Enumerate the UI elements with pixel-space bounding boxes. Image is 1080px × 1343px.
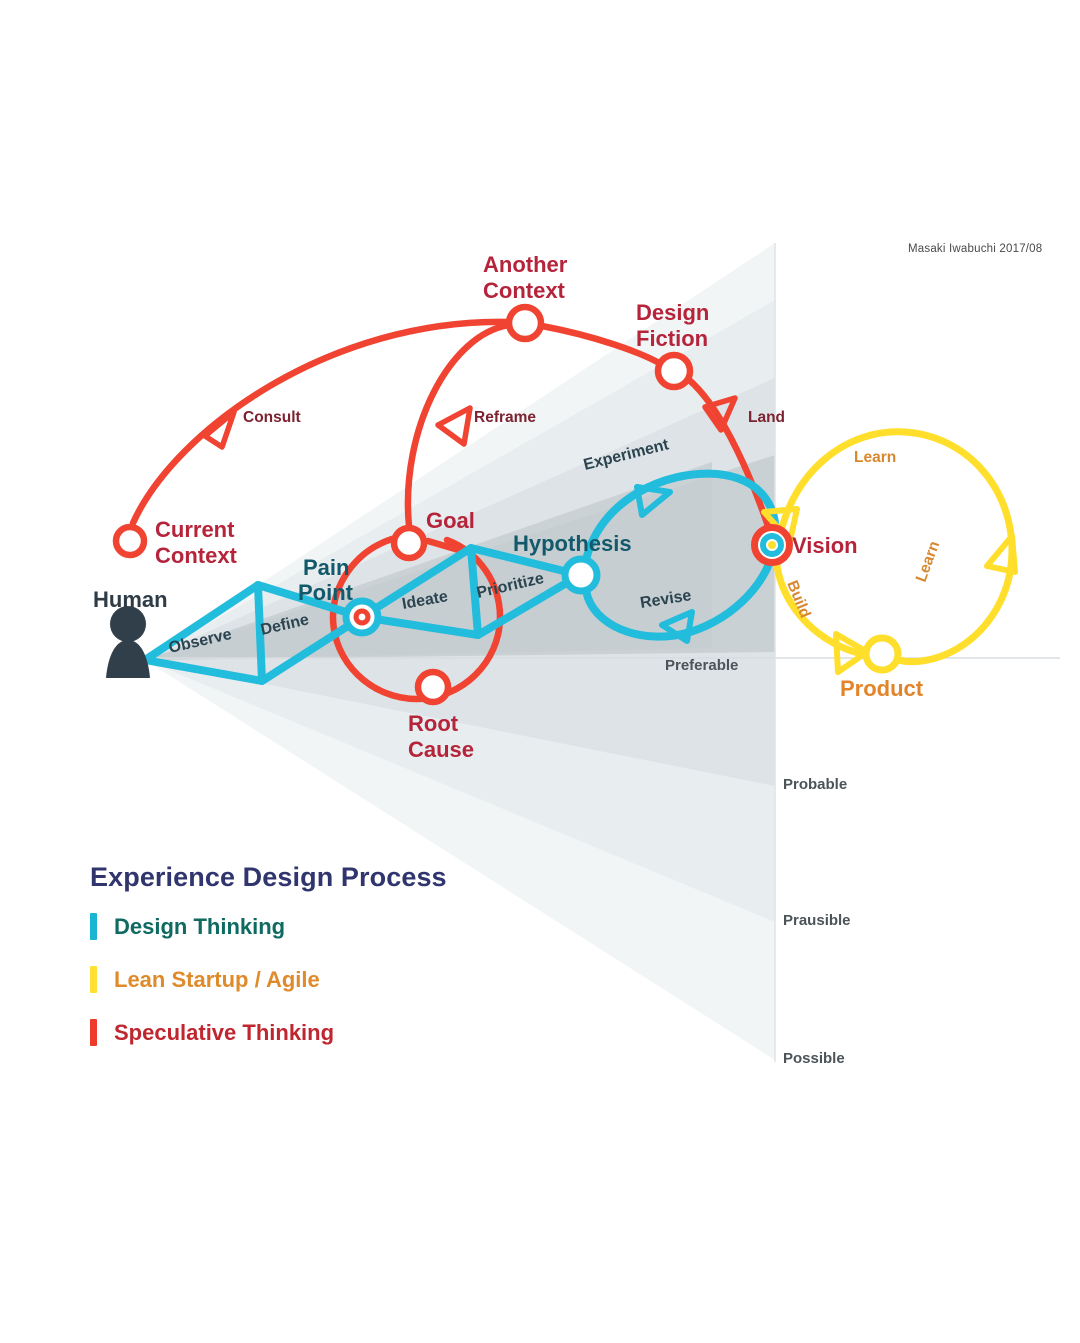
node-vision-core <box>768 541 776 549</box>
label-design-fiction-1: Design <box>636 300 709 325</box>
human-body-icon <box>106 640 150 678</box>
arrowhead-reframe <box>438 408 470 444</box>
label-goal: Goal <box>426 508 475 533</box>
label-design-fiction-2: Fiction <box>636 326 708 351</box>
node-current-context[interactable] <box>116 527 144 555</box>
label-hypothesis: Hypothesis <box>513 531 632 556</box>
legend-label-lean-startup: Lean Startup / Agile <box>114 969 320 991</box>
legend-item-speculative-thinking[interactable]: Speculative Thinking <box>90 1019 447 1046</box>
node-goal[interactable] <box>394 528 424 558</box>
label-product: Product <box>840 676 924 701</box>
node-another-context[interactable] <box>509 307 541 339</box>
edge-label-reframe: Reframe <box>474 409 536 426</box>
label-root-cause-2: Cause <box>408 737 474 762</box>
node-design-fiction[interactable] <box>658 355 690 387</box>
legend-swatch-design-thinking <box>90 913 97 940</box>
cone-label-probable: Probable <box>783 776 847 793</box>
edge-label-consult: Consult <box>243 409 301 426</box>
label-root-cause-1: Root <box>408 711 459 736</box>
label-pain-point-1: Pain <box>303 555 349 580</box>
legend-swatch-speculative-thinking <box>90 1019 97 1046</box>
edge-label-measure: Learn <box>913 539 943 584</box>
cone-label-possible: Possible <box>783 1050 845 1067</box>
node-product[interactable] <box>866 638 898 670</box>
cone-label-preferable: Preferable <box>665 657 738 674</box>
edge-label-land: Land <box>748 409 785 426</box>
label-current-context-1: Current <box>155 517 235 542</box>
legend-title: Experience Design Process <box>90 862 447 893</box>
node-pain-point-core <box>359 614 366 621</box>
node-vision[interactable] <box>755 528 790 563</box>
edge-label-learn: Learn <box>854 449 896 466</box>
legend: Experience Design Process Design Thinkin… <box>90 862 447 1072</box>
attribution-text: Masaki Iwabuchi 2017/08 <box>908 243 1042 255</box>
node-hypothesis[interactable] <box>565 559 597 591</box>
legend-label-speculative-thinking: Speculative Thinking <box>114 1022 334 1044</box>
experience-design-process-diagram: Preferable Probable Prausible Possible <box>0 0 1080 1343</box>
label-vision: Vision <box>792 533 858 558</box>
label-another-context-2: Context <box>483 278 566 303</box>
cone-label-prausible: Prausible <box>783 912 851 929</box>
legend-swatch-lean-startup <box>90 966 97 993</box>
node-root-cause[interactable] <box>418 672 448 702</box>
label-human: Human <box>93 587 168 612</box>
label-another-context-1: Another <box>483 252 568 277</box>
legend-item-design-thinking[interactable]: Design Thinking <box>90 913 447 940</box>
legend-item-lean-startup[interactable]: Lean Startup / Agile <box>90 966 447 993</box>
legend-label-design-thinking: Design Thinking <box>114 916 285 938</box>
label-current-context-2: Context <box>155 543 238 568</box>
label-pain-point-2: Point <box>298 580 354 605</box>
human-actor-icon <box>106 606 150 678</box>
diagram-canvas: Preferable Probable Prausible Possible <box>0 0 1080 1343</box>
